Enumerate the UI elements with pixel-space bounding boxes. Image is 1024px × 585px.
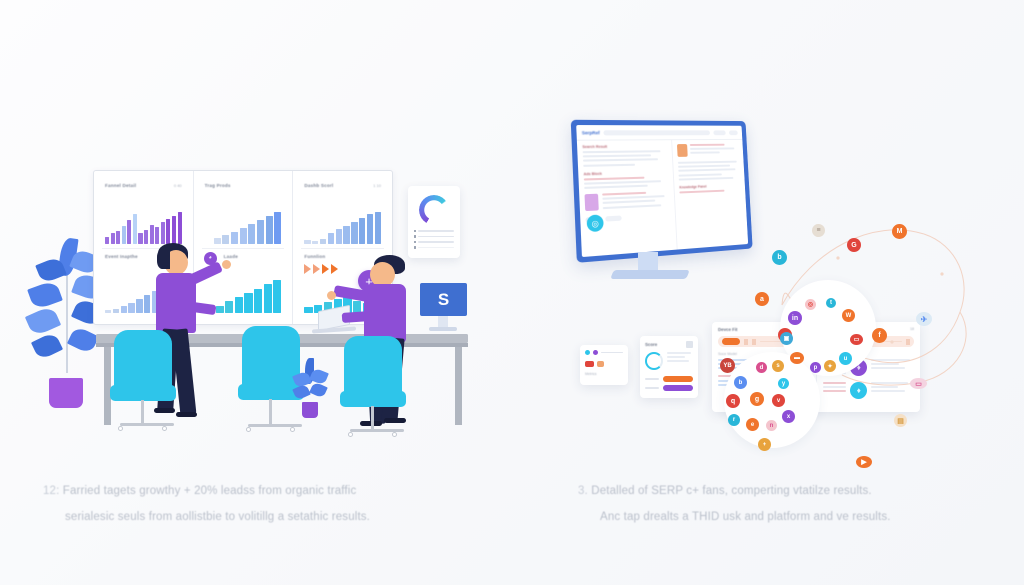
caption-right: 3. Detalled of SERP c+ fans, comperting … xyxy=(578,478,1008,530)
pagination-button[interactable] xyxy=(605,215,621,221)
serp-results-column: Search Result Ads Block xyxy=(577,140,678,257)
monitor-bezel: SerpRef Search Result xyxy=(571,120,753,263)
board-panel-0: Fannel Detail 0 40 xyxy=(102,178,185,248)
social-icon-node: ▭ xyxy=(910,378,927,389)
legend-bar xyxy=(418,236,454,238)
caption-right-line2: Anc tap drealts a THID usk and platform … xyxy=(578,504,1008,530)
legend-dot-icon xyxy=(414,241,416,243)
text-line xyxy=(584,180,661,185)
chair-wheel xyxy=(392,432,397,437)
knowledge-card xyxy=(677,144,739,157)
leaf xyxy=(292,383,311,400)
serp-section xyxy=(584,191,670,212)
text-line xyxy=(679,177,733,181)
bar-chart xyxy=(105,210,182,244)
text-line xyxy=(678,161,737,164)
bar xyxy=(264,284,272,313)
social-icon-node[interactable]: a xyxy=(755,292,769,306)
stat-chip xyxy=(597,361,604,367)
bar xyxy=(328,233,334,243)
knowledge-panel-column: Knowledge Panel ◎ xyxy=(672,140,748,250)
panel-meta: 0 40 xyxy=(174,183,182,188)
bar xyxy=(116,231,120,244)
bar xyxy=(161,222,165,243)
social-icon-node[interactable]: in xyxy=(788,311,802,325)
serp-body: Search Result Ads Block xyxy=(577,140,748,257)
bar xyxy=(312,241,318,244)
chair-back xyxy=(114,330,172,392)
serp-logo: SerpRef xyxy=(582,130,600,135)
social-icon-node[interactable]: ▬ xyxy=(790,352,804,364)
chair-base xyxy=(350,429,404,432)
bar xyxy=(128,303,134,313)
bar xyxy=(320,239,326,244)
desktop-monitor: SerpRef Search Result xyxy=(571,120,753,263)
social-icon-node[interactable]: M xyxy=(892,224,907,239)
social-icon-node[interactable]: b xyxy=(734,376,747,389)
knowledge-rows xyxy=(678,161,740,181)
text-line xyxy=(583,150,661,153)
bar xyxy=(138,233,142,243)
bar xyxy=(304,240,310,243)
bar xyxy=(359,218,365,244)
text-line xyxy=(690,152,719,154)
text-line xyxy=(679,169,736,172)
menu-icon[interactable] xyxy=(686,341,693,348)
bar xyxy=(111,233,115,243)
social-icon-node[interactable]: e xyxy=(746,418,759,431)
chair-seat xyxy=(340,391,406,407)
bar xyxy=(133,214,137,244)
office-chair-right xyxy=(340,336,412,448)
social-icon-node[interactable]: g xyxy=(750,392,764,406)
text-line xyxy=(667,352,691,354)
bar xyxy=(304,307,312,313)
bar xyxy=(336,229,342,244)
text-line xyxy=(584,176,644,180)
arm-raised xyxy=(186,261,223,286)
section-title: Search Result xyxy=(582,144,667,149)
toolbar-button[interactable] xyxy=(729,130,738,135)
social-icon-node[interactable]: p xyxy=(810,362,821,373)
serp-section: Search Result xyxy=(582,144,668,166)
bar xyxy=(144,230,148,244)
donut-chart-card xyxy=(408,186,460,258)
chair-wheel xyxy=(290,427,295,432)
chair-post xyxy=(141,400,144,424)
legend-dot-icon xyxy=(414,246,416,248)
chip-secondary xyxy=(663,385,693,391)
social-icon-node[interactable]: YB xyxy=(720,358,735,373)
panel-title: Funnlion xyxy=(304,254,325,259)
chair-base xyxy=(248,424,302,427)
bar xyxy=(136,299,142,313)
bar-chart xyxy=(304,210,381,244)
caption-left: 12: Farried tagets growthy + 20% leadss … xyxy=(43,478,493,530)
bar xyxy=(367,214,373,244)
legend-bar xyxy=(418,241,454,243)
text-line xyxy=(679,173,722,176)
bar xyxy=(343,226,349,244)
text-line xyxy=(602,192,646,196)
bar-chart xyxy=(214,210,282,244)
plant-pot xyxy=(302,402,318,418)
hand xyxy=(222,260,231,269)
panel-title: Fannel Detail xyxy=(105,183,136,188)
stat-bar xyxy=(601,352,623,354)
plant-pot xyxy=(49,378,83,408)
bar xyxy=(351,222,357,244)
monitor-base xyxy=(610,270,690,279)
social-icon-node[interactable]: t xyxy=(826,298,836,308)
bar xyxy=(240,228,247,244)
social-icon-node[interactable]: ▭ xyxy=(850,334,863,345)
bar xyxy=(122,226,126,244)
social-icon-node[interactable]: u xyxy=(839,352,852,365)
bar xyxy=(105,237,109,243)
social-icon-node[interactable]: ≡ xyxy=(812,224,825,237)
text-line xyxy=(680,189,725,193)
bar xyxy=(178,212,182,243)
result-thumbnail xyxy=(584,194,598,211)
panel-title: Dashb Scorl xyxy=(304,183,333,188)
social-icon-node[interactable]: n xyxy=(766,420,777,431)
caption-right-line1: Detalled of SERP c+ fans, comperting vta… xyxy=(591,485,872,497)
social-icon-node: ▤ xyxy=(894,414,907,427)
bar xyxy=(113,309,119,313)
caption-left-number: 12: xyxy=(43,485,59,497)
social-icon-node[interactable]: b xyxy=(772,250,787,265)
gauge-icon xyxy=(645,352,663,370)
social-icon-node[interactable]: + xyxy=(758,438,771,451)
board-panel-4: Dashb Scorl 1 10 xyxy=(301,178,384,248)
legend-item xyxy=(414,235,454,237)
left-illustration-panel: Fannel Detail 0 40 Event Inapthe 0 4 16 … xyxy=(0,0,512,470)
torso xyxy=(364,284,406,342)
social-icon-node[interactable]: ▣ xyxy=(780,332,793,345)
desk-leg xyxy=(455,347,462,425)
bar xyxy=(375,212,381,244)
knowledge-thumbnail xyxy=(677,144,688,157)
chair-wheel xyxy=(118,426,123,431)
section-title: Ads Block xyxy=(583,170,668,176)
chair-base xyxy=(120,423,174,426)
bar xyxy=(166,219,170,243)
text-line xyxy=(603,204,661,209)
text-line xyxy=(583,163,635,166)
social-icon-network: a b ≡ G M p f YB ✈ ▭ ▤ ▶ ◎ t in W ▣ ▭ ▬ … xyxy=(742,210,1024,430)
chip-primary xyxy=(663,376,693,382)
funnel-arrow-icons xyxy=(304,264,338,274)
stat-dot-icon xyxy=(585,350,590,355)
right-illustration-panel: SerpRef Search Result xyxy=(512,0,1024,470)
serp-toolbar: SerpRef xyxy=(576,125,742,141)
chair-seat xyxy=(110,385,176,401)
social-icon-node[interactable]: f xyxy=(872,328,887,343)
section-title: Knowledge Panel xyxy=(679,183,740,189)
social-icon-node[interactable]: ▶ xyxy=(856,456,872,468)
text-line xyxy=(603,200,656,204)
social-icon-node: ✈ xyxy=(916,312,932,326)
chair-back xyxy=(344,336,402,398)
social-icon-node[interactable]: d xyxy=(756,362,767,373)
panel-meta: 1 10 xyxy=(373,183,381,188)
bar xyxy=(257,220,264,244)
donut-chart-icon xyxy=(419,195,449,225)
card-subtitle: Metrics xyxy=(585,372,623,376)
mini-stats-card: Metrics xyxy=(580,345,628,385)
chair-wheel xyxy=(246,427,251,432)
social-icon-node[interactable]: s xyxy=(772,360,784,372)
bar xyxy=(231,232,238,244)
chair-post xyxy=(269,399,272,425)
toolbar-button[interactable] xyxy=(713,130,725,135)
social-icon-node[interactable]: G xyxy=(847,238,861,252)
active-tab[interactable] xyxy=(722,338,740,345)
caption-right-number: 3. xyxy=(578,485,588,497)
monitor-screen: SerpRef Search Result xyxy=(576,125,748,257)
social-icon-node[interactable]: q xyxy=(726,394,740,408)
text-line xyxy=(584,185,648,189)
text-line xyxy=(583,159,658,162)
small-plant xyxy=(290,358,330,420)
office-chair-left xyxy=(110,330,182,440)
legend-dot-icon xyxy=(414,235,416,237)
panel-title: Devce Fit xyxy=(718,327,738,332)
bar xyxy=(121,306,127,313)
social-icon-node[interactable]: W xyxy=(842,309,855,322)
card-title: Score xyxy=(645,342,657,347)
bar xyxy=(248,224,255,244)
stat-dot-icon xyxy=(593,350,598,355)
chair-post xyxy=(371,406,374,430)
board-panel-2: Trag Prods xyxy=(202,178,285,248)
bar xyxy=(273,280,281,313)
leaf xyxy=(309,381,328,398)
caption-left-line1: Farried tagets growthy + 20% leadss from… xyxy=(63,485,357,497)
hand xyxy=(327,291,336,300)
bar xyxy=(127,220,131,243)
row-label xyxy=(645,387,659,389)
social-icon-node[interactable]: ✦ xyxy=(824,360,836,372)
search-bar[interactable] xyxy=(604,130,710,135)
text-line xyxy=(690,144,724,146)
hair-back xyxy=(157,249,170,269)
text-line xyxy=(667,360,689,362)
analytics-whiteboard: Fannel Detail 0 40 Event Inapthe 0 4 16 … xyxy=(93,170,393,325)
legend-item xyxy=(414,241,454,243)
bar xyxy=(254,289,262,313)
bar xyxy=(266,216,273,244)
text-line xyxy=(667,356,685,358)
text-line xyxy=(690,148,734,150)
legend-item xyxy=(414,230,454,232)
panel-title: Trag Prods xyxy=(205,183,231,188)
score-card: Score xyxy=(640,336,698,398)
arm-lower xyxy=(342,311,371,323)
caption-left-line2: serialesic seuls from aollistbie to voli… xyxy=(43,504,493,530)
serp-section: Ads Block xyxy=(583,170,669,189)
legend-item xyxy=(414,246,454,248)
bar xyxy=(172,216,176,243)
row-label xyxy=(645,378,659,380)
social-icon-node[interactable]: ◎ xyxy=(805,299,816,310)
bar xyxy=(155,227,159,243)
chair-wheel xyxy=(162,426,167,431)
bar xyxy=(150,225,154,244)
social-icon-node[interactable]: y xyxy=(778,378,789,389)
bar xyxy=(244,293,252,313)
bar xyxy=(274,212,281,244)
legend-bar xyxy=(418,230,454,232)
social-icon-node[interactable]: r xyxy=(728,414,740,426)
panel-title: Event Inapthe xyxy=(105,254,138,259)
monitor-stand xyxy=(638,252,658,272)
text-line xyxy=(678,165,730,168)
legend-dot-icon xyxy=(414,230,416,232)
social-icon-node[interactable]: x xyxy=(782,410,795,423)
social-icon-node[interactable]: v xyxy=(772,394,785,407)
bar xyxy=(105,310,111,313)
chair-wheel xyxy=(348,432,353,437)
text-line xyxy=(583,155,652,158)
stat-chip xyxy=(585,361,594,367)
legend-bar xyxy=(418,247,454,249)
